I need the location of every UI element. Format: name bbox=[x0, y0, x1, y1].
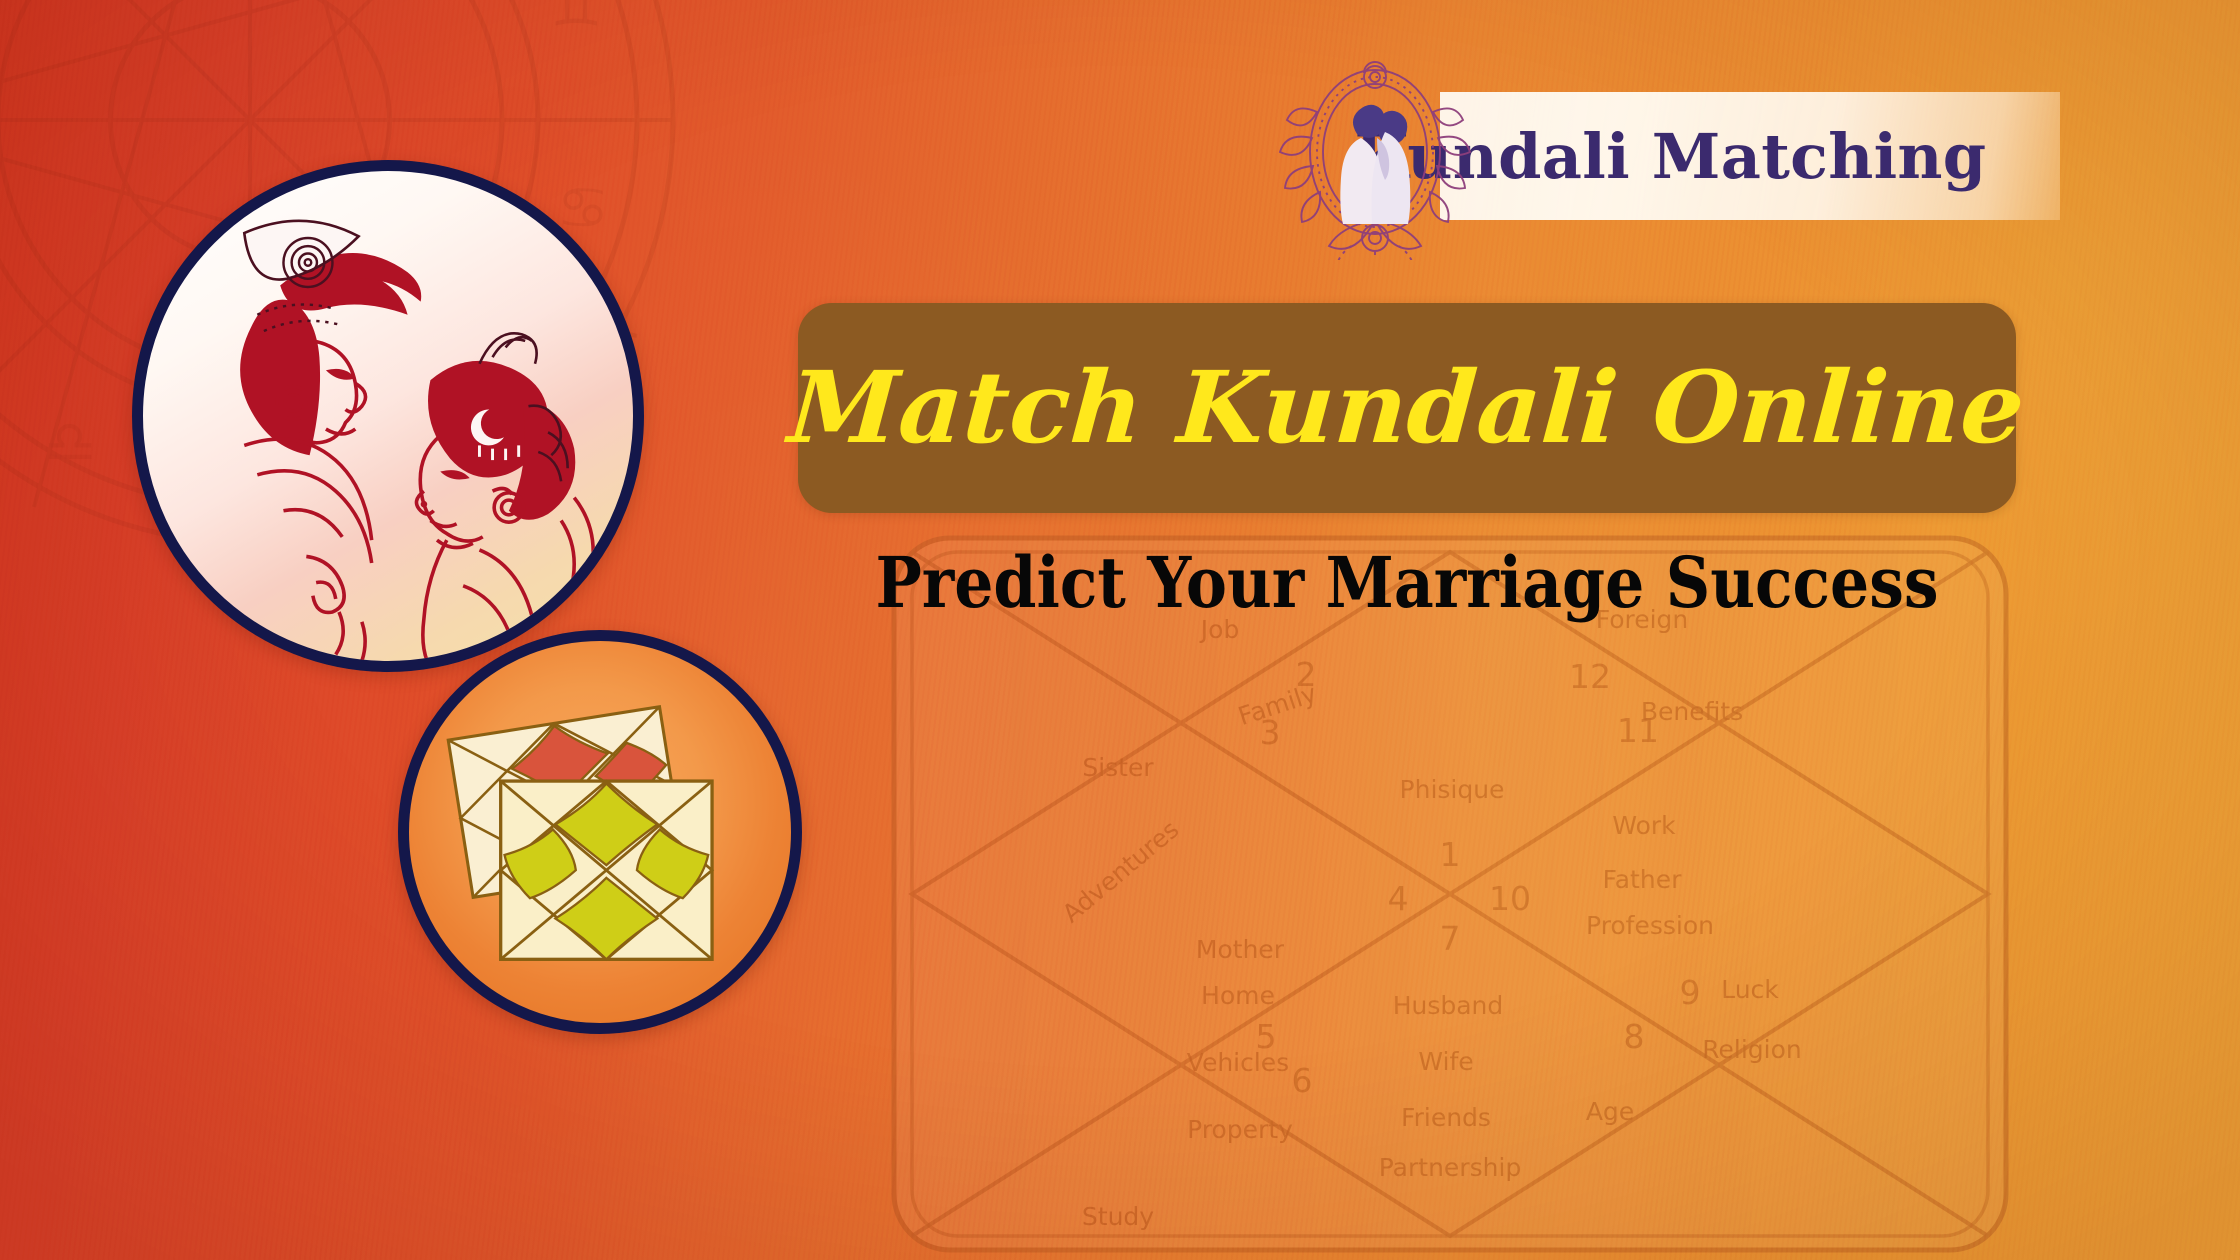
svg-text:♊: ♊ bbox=[550, 0, 602, 40]
svg-text:2: 2 bbox=[1296, 655, 1317, 694]
svg-text:Partnership: Partnership bbox=[1379, 1153, 1522, 1182]
svg-text:Sister: Sister bbox=[1082, 753, 1154, 782]
page-title: Match Kundali Online bbox=[786, 359, 2028, 458]
couple-in-ornate-frame-emblem bbox=[1265, 60, 1485, 260]
svg-text:Mother: Mother bbox=[1196, 935, 1285, 964]
radha-krishna-couple-illustration bbox=[132, 160, 644, 672]
svg-text:Study: Study bbox=[1082, 1202, 1154, 1231]
svg-text:Profession: Profession bbox=[1586, 911, 1714, 940]
svg-text:Friends: Friends bbox=[1401, 1103, 1491, 1132]
kundali-charts-illustration bbox=[398, 630, 802, 1034]
svg-text:Phisique: Phisique bbox=[1400, 775, 1505, 804]
brand-logo[interactable]: Kundali Matching bbox=[1265, 82, 2060, 230]
svg-text:Work: Work bbox=[1612, 811, 1676, 840]
svg-text:Religion: Religion bbox=[1702, 1035, 1801, 1064]
svg-text:Home: Home bbox=[1201, 981, 1275, 1010]
svg-text:10: 10 bbox=[1489, 879, 1531, 918]
page-subtitle: Predict Your Marriage Success bbox=[871, 548, 1943, 618]
svg-text:5: 5 bbox=[1256, 1017, 1277, 1056]
svg-text:6: 6 bbox=[1292, 1061, 1313, 1100]
svg-text:Wife: Wife bbox=[1418, 1047, 1473, 1076]
svg-text:4: 4 bbox=[1388, 879, 1409, 918]
svg-text:Property: Property bbox=[1187, 1115, 1293, 1144]
svg-text:1: 1 bbox=[1440, 835, 1461, 874]
svg-text:3: 3 bbox=[1260, 713, 1281, 752]
svg-text:Father: Father bbox=[1603, 865, 1682, 894]
svg-text:12: 12 bbox=[1569, 657, 1611, 696]
svg-text:Age: Age bbox=[1586, 1097, 1634, 1126]
svg-text:Husband: Husband bbox=[1393, 991, 1504, 1020]
svg-text:9: 9 bbox=[1680, 973, 1701, 1012]
svg-text:8: 8 bbox=[1624, 1017, 1645, 1056]
svg-text:Luck: Luck bbox=[1721, 975, 1779, 1004]
svg-text:7: 7 bbox=[1440, 919, 1461, 958]
banner-canvas: ♈♉ ♊♋ ♌♍ ♎♏ ♐♑ ♒♓ bbox=[0, 0, 2240, 1260]
title-banner: Match Kundali Online bbox=[798, 303, 2016, 513]
svg-text:11: 11 bbox=[1617, 711, 1659, 750]
svg-text:♎: ♎ bbox=[44, 408, 96, 476]
